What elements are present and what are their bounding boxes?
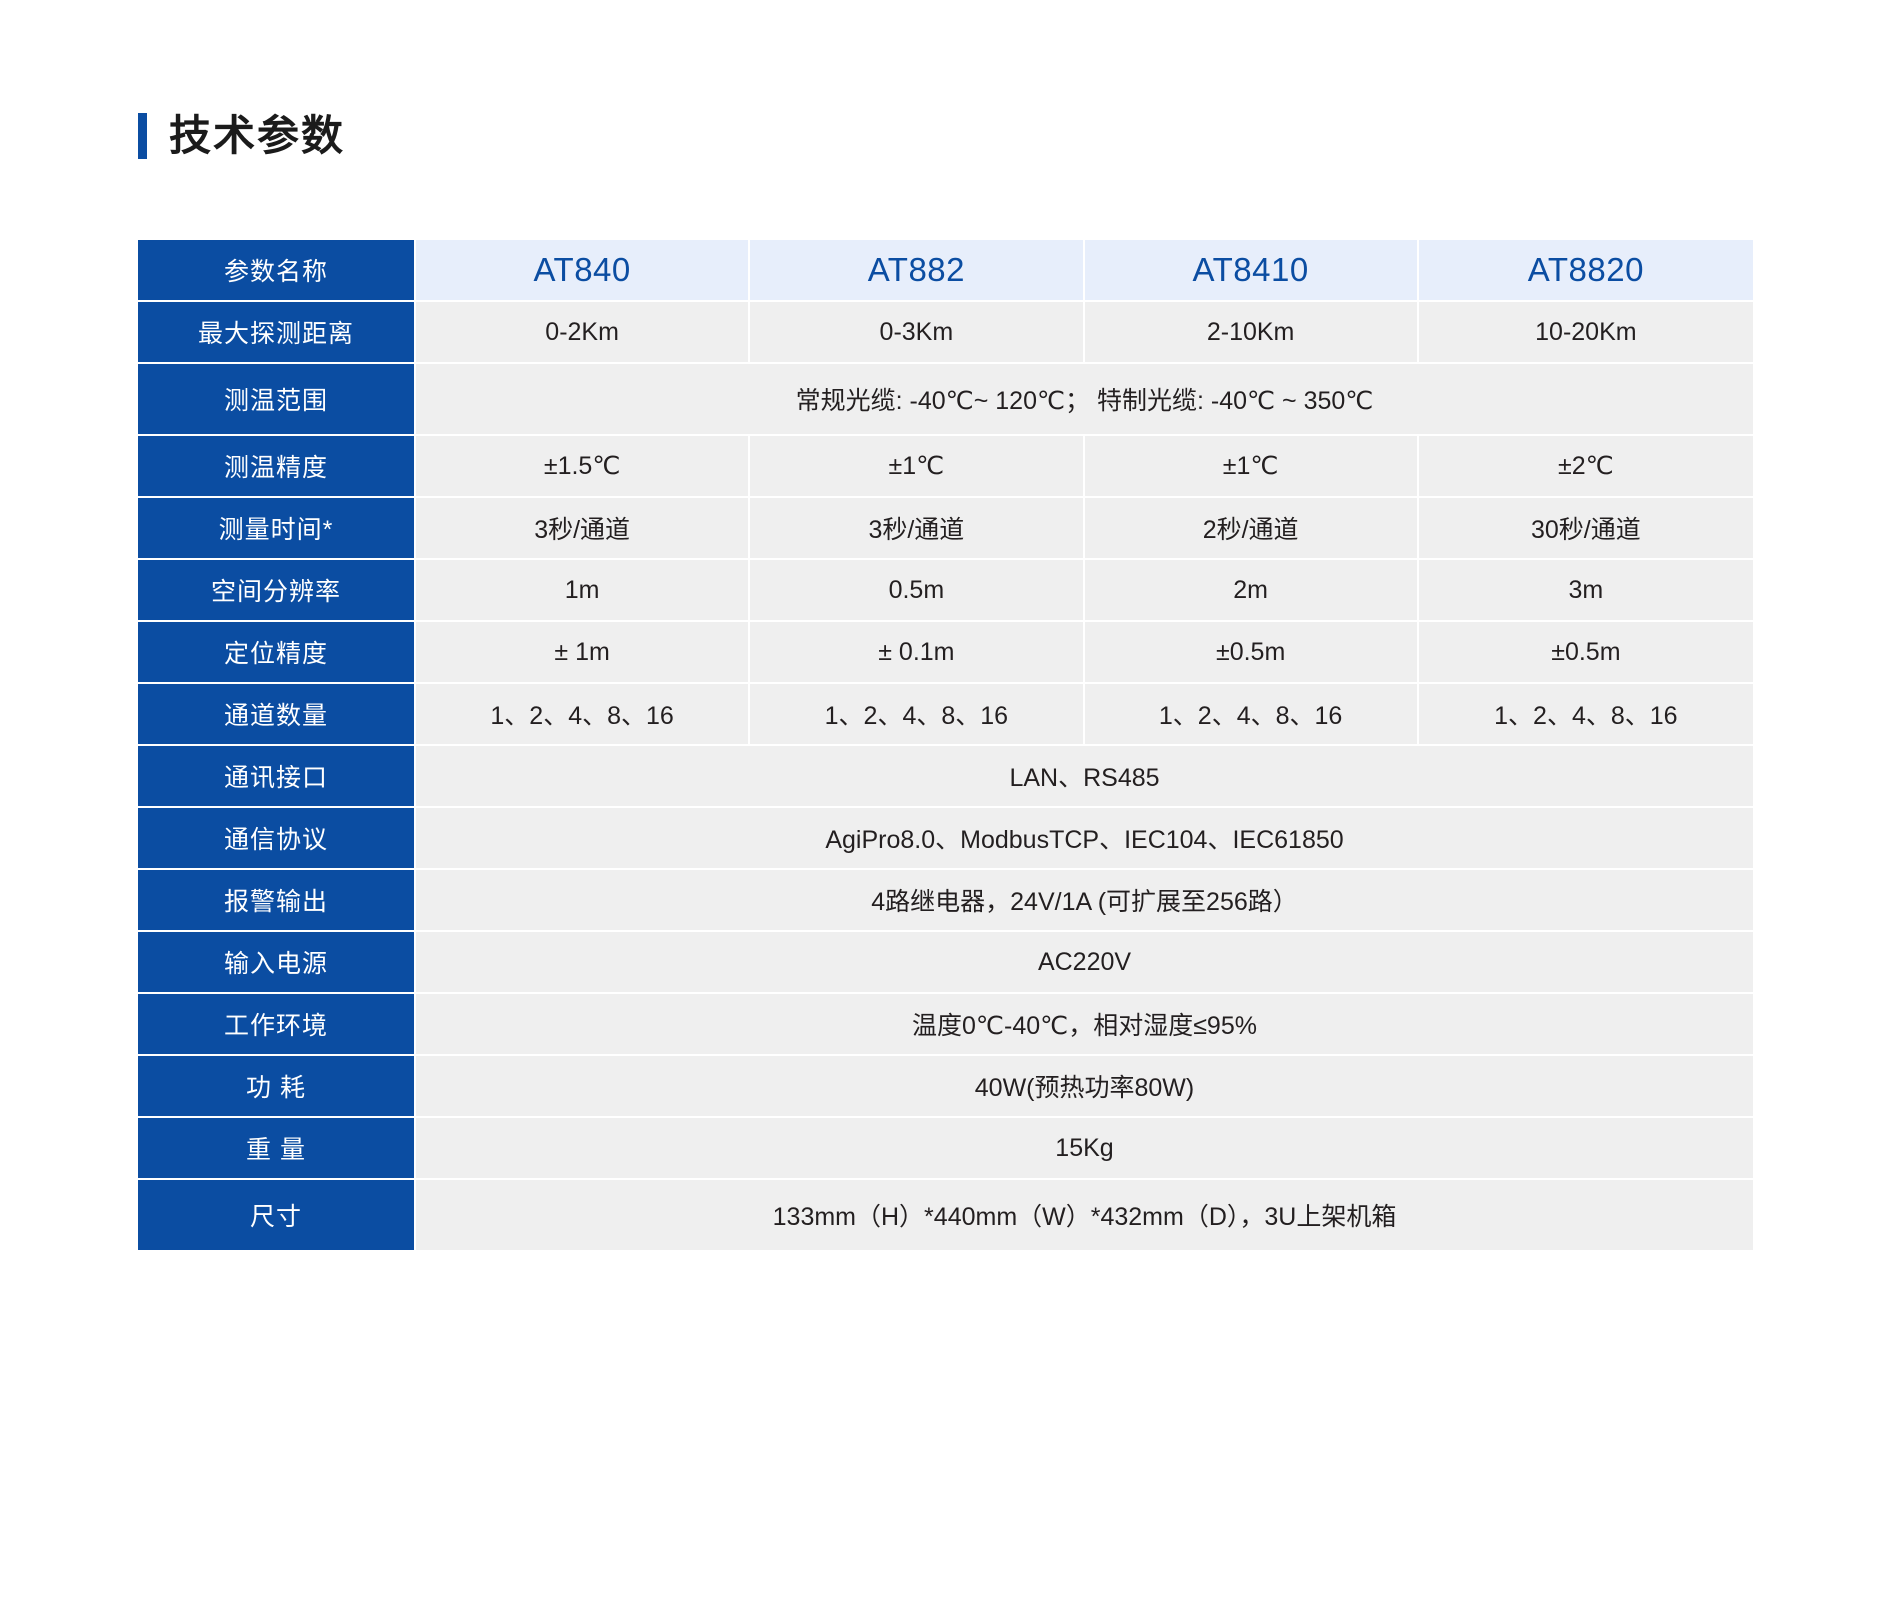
row-value: 1、2、4、8、16 xyxy=(750,684,1084,744)
table-header-row: 参数名称 AT840 AT882 AT8410 AT8820 xyxy=(138,240,1753,300)
column-header-at882: AT882 xyxy=(750,240,1084,300)
table-row: 测量时间* 3秒/通道 3秒/通道 2秒/通道 30秒/通道 xyxy=(138,498,1753,558)
row-value-merged: AgiPro8.0、ModbusTCP、IEC104、IEC61850 xyxy=(416,808,1753,868)
row-value: 1、2、4、8、16 xyxy=(1085,684,1419,744)
row-value: ± 0.1m xyxy=(750,622,1084,682)
row-value: ±1℃ xyxy=(1085,436,1419,496)
row-value: ±1.5℃ xyxy=(416,436,750,496)
row-value-merged: 常规光缆: -40℃~ 120℃； 特制光缆: -40℃ ~ 350℃ xyxy=(416,364,1753,434)
table-row: 定位精度 ± 1m ± 0.1m ±0.5m ±0.5m xyxy=(138,622,1753,682)
row-value: 1m xyxy=(416,560,750,620)
row-label: 测量时间* xyxy=(138,498,416,558)
table-row: 通道数量 1、2、4、8、16 1、2、4、8、16 1、2、4、8、16 1、… xyxy=(138,684,1753,744)
row-label: 通道数量 xyxy=(138,684,416,744)
row-value-merged: 15Kg xyxy=(416,1118,1753,1178)
table-row: 工作环境 温度0℃-40℃，相对湿度≤95% xyxy=(138,994,1753,1054)
row-label: 重 量 xyxy=(138,1118,416,1178)
row-label: 通讯接口 xyxy=(138,746,416,806)
row-value: 10-20Km xyxy=(1419,302,1753,362)
row-label: 输入电源 xyxy=(138,932,416,992)
table-row: 输入电源 AC220V xyxy=(138,932,1753,992)
row-value-merged: 温度0℃-40℃，相对湿度≤95% xyxy=(416,994,1753,1054)
row-value-merged: 133mm（H）*440mm（W）*432mm（D），3U上架机箱 xyxy=(416,1180,1753,1250)
row-value: 2秒/通道 xyxy=(1085,498,1419,558)
title-accent-bar xyxy=(138,113,147,159)
row-label: 测温范围 xyxy=(138,364,416,434)
row-label: 通信协议 xyxy=(138,808,416,868)
row-value: 1、2、4、8、16 xyxy=(1419,684,1753,744)
table-row: 测温精度 ±1.5℃ ±1℃ ±1℃ ±2℃ xyxy=(138,436,1753,496)
table-row: 通讯接口 LAN、RS485 xyxy=(138,746,1753,806)
row-value: ±0.5m xyxy=(1085,622,1419,682)
row-value: 0-3Km xyxy=(750,302,1084,362)
column-header-at8820: AT8820 xyxy=(1419,240,1753,300)
page-title-text: 技术参数 xyxy=(169,115,345,157)
table-body: 最大探测距离 0-2Km 0-3Km 2-10Km 10-20Km 测温范围 常… xyxy=(138,302,1753,1250)
column-header-at840: AT840 xyxy=(416,240,750,300)
column-header-at8410: AT8410 xyxy=(1085,240,1419,300)
row-value: 3m xyxy=(1419,560,1753,620)
table-row: 功 耗 40W(预热功率80W) xyxy=(138,1056,1753,1116)
spec-sheet-page: 技术参数 参数名称 AT840 AT882 AT8410 AT8820 最大探测… xyxy=(0,0,1891,1605)
row-value: 3秒/通道 xyxy=(750,498,1084,558)
row-value: 2-10Km xyxy=(1085,302,1419,362)
row-label: 空间分辨率 xyxy=(138,560,416,620)
table-row: 重 量 15Kg xyxy=(138,1118,1753,1178)
row-value: 2m xyxy=(1085,560,1419,620)
table-row: 尺寸 133mm（H）*440mm（W）*432mm（D），3U上架机箱 xyxy=(138,1180,1753,1250)
row-value-merged: LAN、RS485 xyxy=(416,746,1753,806)
table-row: 空间分辨率 1m 0.5m 2m 3m xyxy=(138,560,1753,620)
row-label: 定位精度 xyxy=(138,622,416,682)
column-header-name: 参数名称 xyxy=(138,240,416,300)
row-value-merged: 4路继电器，24V/1A (可扩展至256路） xyxy=(416,870,1753,930)
row-value: 3秒/通道 xyxy=(416,498,750,558)
page-title: 技术参数 xyxy=(138,113,345,159)
row-label: 工作环境 xyxy=(138,994,416,1054)
row-value: 0-2Km xyxy=(416,302,750,362)
row-value-merged: 40W(预热功率80W) xyxy=(416,1056,1753,1116)
row-value: ±1℃ xyxy=(750,436,1084,496)
row-value: ±2℃ xyxy=(1419,436,1753,496)
row-label: 功 耗 xyxy=(138,1056,416,1116)
row-label: 最大探测距离 xyxy=(138,302,416,362)
table-row: 报警输出 4路继电器，24V/1A (可扩展至256路） xyxy=(138,870,1753,930)
row-value-merged: AC220V xyxy=(416,932,1753,992)
table-row: 通信协议 AgiPro8.0、ModbusTCP、IEC104、IEC61850 xyxy=(138,808,1753,868)
row-label: 测温精度 xyxy=(138,436,416,496)
row-label: 报警输出 xyxy=(138,870,416,930)
row-value: 0.5m xyxy=(750,560,1084,620)
table-row: 测温范围 常规光缆: -40℃~ 120℃； 特制光缆: -40℃ ~ 350℃ xyxy=(138,364,1753,434)
row-value: ±0.5m xyxy=(1419,622,1753,682)
row-value: ± 1m xyxy=(416,622,750,682)
technical-parameters-table: 参数名称 AT840 AT882 AT8410 AT8820 最大探测距离 0-… xyxy=(138,238,1753,1252)
table-row: 最大探测距离 0-2Km 0-3Km 2-10Km 10-20Km xyxy=(138,302,1753,362)
row-value: 1、2、4、8、16 xyxy=(416,684,750,744)
row-value: 30秒/通道 xyxy=(1419,498,1753,558)
row-label: 尺寸 xyxy=(138,1180,416,1250)
